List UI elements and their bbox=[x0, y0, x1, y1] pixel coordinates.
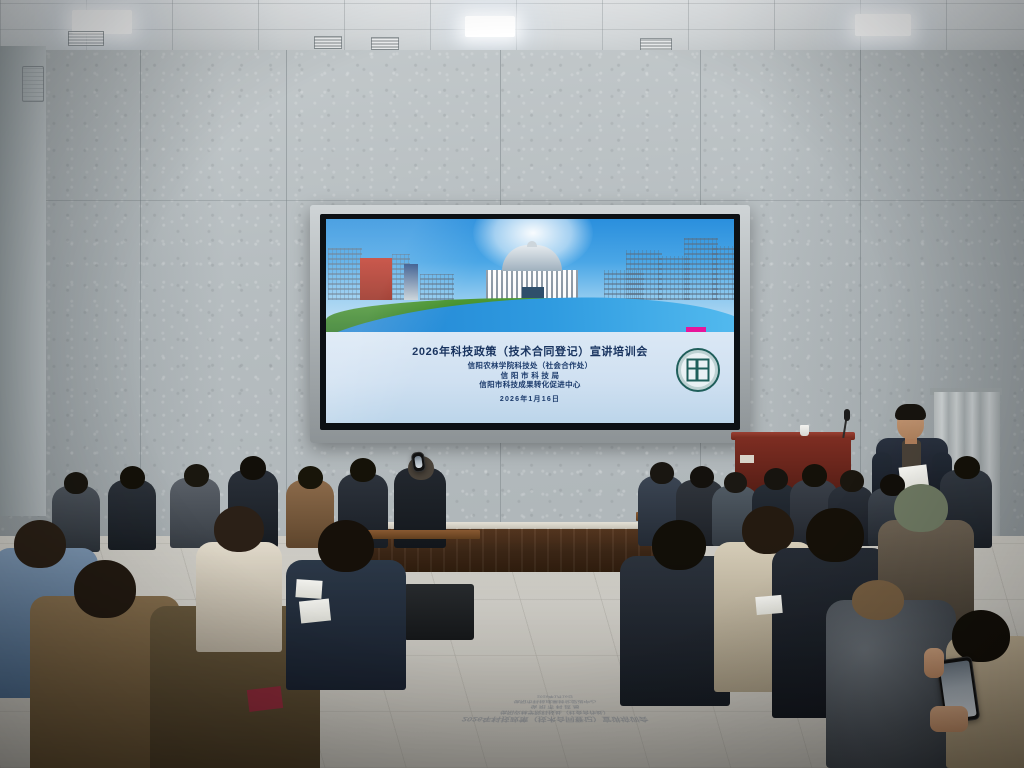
attendee-head bbox=[894, 484, 948, 532]
attendee-head bbox=[806, 508, 864, 562]
attendee-head bbox=[690, 466, 714, 488]
university-seal-icon bbox=[676, 348, 720, 392]
attendee-head bbox=[724, 472, 747, 493]
ceiling-shading bbox=[0, 0, 1024, 56]
led-display-screen: 2026年科技政策（技术合同登记）宣讲培训会 信阳农林学院科技处（社会合作处） … bbox=[326, 219, 734, 423]
attendee-head bbox=[240, 456, 266, 480]
attendee-head bbox=[840, 470, 864, 492]
attendee bbox=[170, 478, 220, 548]
conference-room-photo: 2026年科技政策（技术合同登记）宣讲培训会 信阳农林学院科技处（社会合作处） … bbox=[0, 0, 1024, 768]
paper-cup bbox=[800, 425, 809, 436]
smartphone-photographing-midrow[interactable] bbox=[411, 451, 427, 473]
attendee-head bbox=[650, 462, 674, 484]
hand-holding-phone bbox=[930, 706, 968, 732]
presenter-hair bbox=[895, 404, 926, 420]
attendee-head bbox=[350, 458, 376, 482]
attendee-head bbox=[318, 520, 374, 572]
dome-cap bbox=[527, 241, 537, 247]
wall-speaker-icon bbox=[22, 66, 44, 102]
seal-inner-mark bbox=[687, 359, 710, 382]
attendee-head bbox=[742, 506, 794, 554]
slide-title: 2026年科技政策（技术合同登记）宣讲培训会 bbox=[326, 343, 734, 359]
handout-paper bbox=[295, 579, 322, 599]
attendee-head bbox=[652, 520, 706, 570]
reflection-title: 2026年科技政策（技术合同登记）宣讲培训会 bbox=[450, 715, 660, 723]
building-right-5 bbox=[712, 246, 734, 300]
attendee-head bbox=[952, 610, 1010, 662]
attendee-fur-coat bbox=[826, 600, 956, 768]
chair-back bbox=[404, 584, 474, 640]
attendee-head bbox=[802, 464, 827, 487]
attendee-head bbox=[14, 520, 66, 568]
attendee-head bbox=[298, 466, 323, 489]
slide-date: 2026年1月16日 bbox=[326, 394, 734, 404]
notebook-red bbox=[247, 686, 283, 712]
attendee-head bbox=[214, 506, 264, 552]
lectern-plate bbox=[740, 455, 754, 463]
attendee-head bbox=[120, 466, 145, 489]
slide-org-2: 信 阳 市 科 技 局 bbox=[326, 371, 734, 381]
slide-org-1: 信阳农林学院科技处（社会合作处） bbox=[326, 361, 734, 371]
left-side-wall bbox=[0, 46, 46, 516]
handout-paper bbox=[299, 598, 331, 623]
attendee-head bbox=[852, 580, 904, 620]
slide-org-3: 信阳市科技成果转化促进中心 bbox=[326, 380, 734, 390]
attendee-head bbox=[954, 456, 980, 479]
handout-paper bbox=[755, 595, 782, 615]
suspended-tile-ceiling bbox=[0, 0, 1024, 56]
attendee-head bbox=[74, 560, 136, 618]
hand-holding-phone bbox=[924, 648, 944, 678]
attendee-head bbox=[184, 464, 209, 487]
slide-organizations: 信阳农林学院科技处（社会合作处） 信 阳 市 科 技 局 信阳市科技成果转化促进… bbox=[326, 361, 734, 390]
slide-text-area: 2026年科技政策（技术合同登记）宣讲培训会 信阳农林学院科技处（社会合作处） … bbox=[326, 332, 734, 423]
phone-screen bbox=[414, 456, 423, 469]
attendee-head bbox=[64, 472, 88, 494]
attendee-front bbox=[196, 542, 282, 652]
microphone-icon bbox=[844, 409, 850, 421]
attendee bbox=[108, 480, 156, 550]
attendee-head bbox=[764, 468, 788, 490]
